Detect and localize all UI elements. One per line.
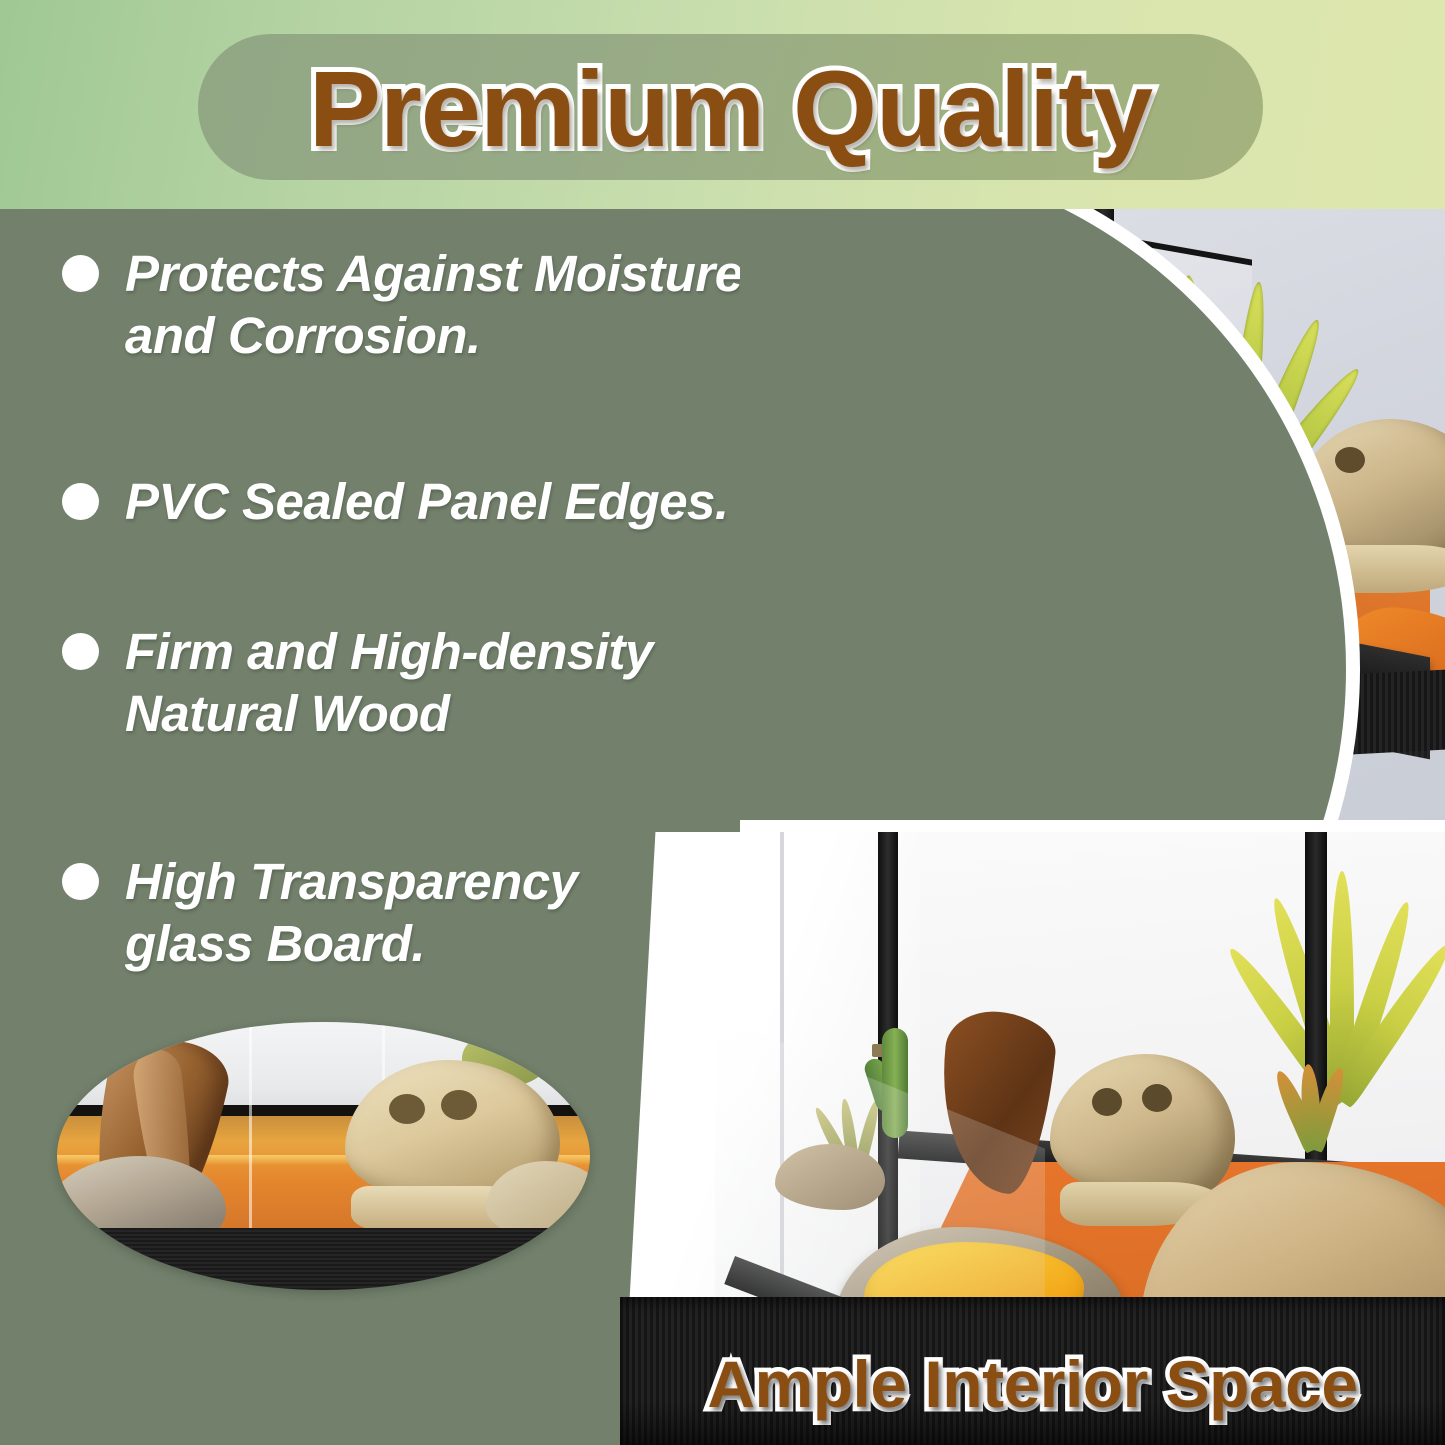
list-item: Protects Against Moisture and Corrosion.: [62, 243, 762, 367]
bottom-caption: Ample Interior Space: [620, 1336, 1445, 1432]
glass-panel-seam: [249, 1022, 252, 1231]
page-title: Premium Quality: [198, 38, 1263, 178]
feature-text: Protects Against Moisture and Corrosion.: [125, 243, 762, 367]
skull-eye-socket: [441, 1090, 477, 1120]
skull-eye-socket: [389, 1094, 425, 1124]
dinosaur-skull-decor: [1050, 1054, 1235, 1204]
skull-eye-socket: [1142, 1084, 1172, 1112]
terrarium-wooden-base: [57, 1228, 590, 1290]
skull-eye-socket: [1092, 1088, 1122, 1116]
list-item: PVC Sealed Panel Edges.: [62, 471, 762, 533]
bullet-circle-icon: [62, 863, 99, 900]
feature-text: Firm and High-density Natural Wood: [125, 621, 742, 745]
list-item: High Transparency glass Board.: [62, 851, 702, 975]
top-right-photo: [740, 209, 1445, 831]
bullet-circle-icon: [62, 483, 99, 520]
list-item: Firm and High-density Natural Wood: [62, 621, 742, 745]
plant-decor-right: [1220, 1030, 1390, 1150]
feature-text: High Transparency glass Board.: [125, 851, 702, 975]
header-band: Premium Quality: [0, 0, 1445, 209]
product-infographic: Premium Quality Protects Against Moistur…: [0, 0, 1445, 1445]
feature-text: PVC Sealed Panel Edges.: [125, 471, 729, 533]
oval-inset-photo: [57, 1022, 590, 1290]
bullet-circle-icon: [62, 255, 99, 292]
skull-eye-socket: [1335, 447, 1365, 473]
bullet-circle-icon: [62, 633, 99, 670]
